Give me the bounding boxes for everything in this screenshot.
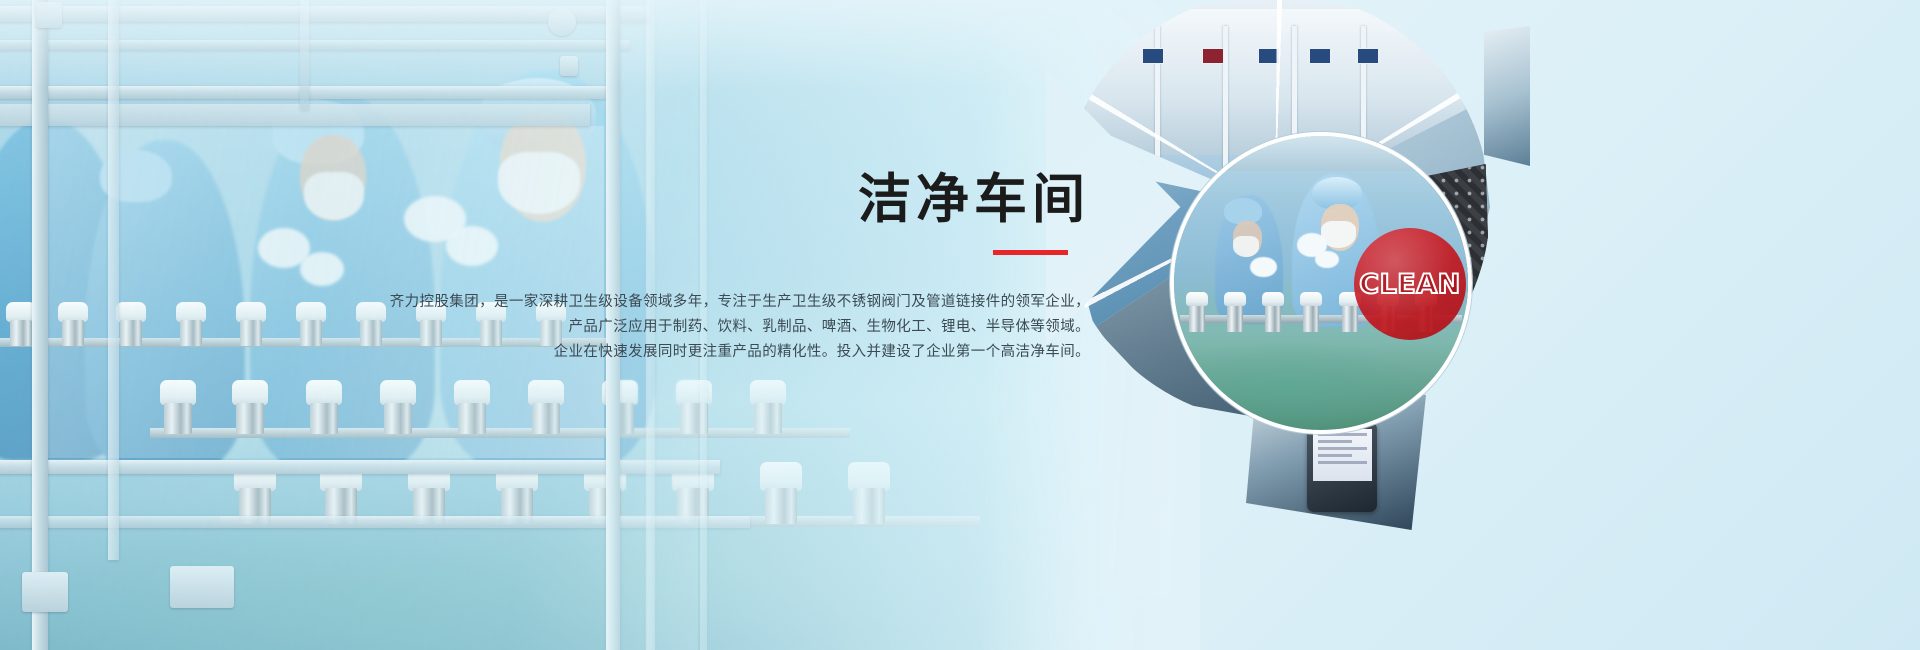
scanner-screen [1313, 429, 1372, 481]
banner-description: 齐力控股集团，是一家深耕卫生级设备领域多年，专注于生产卫生级不锈钢阀门及管道链接… [0, 290, 1090, 365]
clean-badge-label: CLEAN [1359, 269, 1460, 300]
inner-stainless-valve [1186, 292, 1208, 332]
description-line: 齐力控股集团，是一家深耕卫生级设备领域多年，专注于生产卫生级不锈钢阀门及管道链接… [0, 290, 1090, 315]
inner-face-mask [1233, 236, 1259, 257]
inner-stainless-valve [1224, 292, 1246, 332]
banner-text-block: 洁净车间 齐力控股集团，是一家深耕卫生级设备领域多年，专注于生产卫生级不锈钢阀门… [0, 0, 1115, 365]
clean-badge: CLEAN [1354, 228, 1466, 340]
clean-room-banner: CLEAN 洁净车间 齐力控股集团，是一家深耕卫生级设备领域多年，专注于生产卫生… [0, 0, 1920, 650]
handheld-scanner-device [1307, 422, 1377, 512]
inner-worker-cap [1224, 198, 1262, 224]
inner-glove [1315, 251, 1339, 269]
collage-edge-tile [1484, 26, 1530, 166]
inner-glove [1250, 257, 1276, 278]
description-line: 企业在快速发展同时更注重产品的精化性。投入并建设了企业第一个高洁净车间。 [0, 340, 1090, 365]
photo-collage: CLEAN [1050, 0, 1530, 532]
inner-ceiling [1215, 132, 1444, 171]
description-line: 产品广泛应用于制药、饮料、乳制品、啤酒、生物化工、锂电、半导体等领域。 [0, 315, 1090, 340]
title-rule-wrap [0, 228, 1090, 260]
inner-stainless-valve [1300, 292, 1322, 332]
title-accent-rule [993, 250, 1068, 255]
collage-inner-circle: CLEAN [1170, 132, 1472, 434]
page-title: 洁净车间 [0, 172, 1090, 228]
inner-stainless-valve [1262, 292, 1284, 332]
